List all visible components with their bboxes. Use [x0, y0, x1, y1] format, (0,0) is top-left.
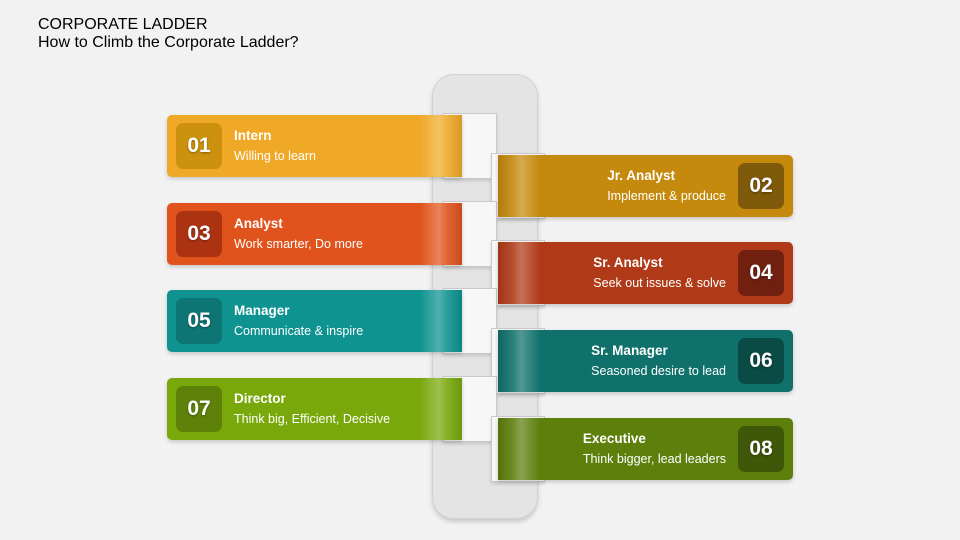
step-title: Sr. Analyst	[593, 255, 726, 271]
step-description: Implement & produce	[607, 188, 726, 204]
card-end-cap	[498, 418, 540, 480]
step-number-badge: 04	[738, 250, 784, 296]
card-text-block: AnalystWork smarter, Do more	[234, 216, 363, 252]
step-card-05[interactable]: 05ManagerCommunicate & inspire	[167, 290, 462, 352]
card-text-block: InternWilling to learn	[234, 128, 316, 164]
step-description: Think big, Efficient, Decisive	[234, 411, 390, 427]
step-number-badge: 06	[738, 338, 784, 384]
step-card-03[interactable]: 03AnalystWork smarter, Do more	[167, 203, 462, 265]
step-number-badge: 03	[176, 211, 222, 257]
header: CORPORATE LADDER How to Climb the Corpor…	[38, 16, 299, 52]
card-text-block: ExecutiveThink bigger, lead leaders	[583, 431, 726, 467]
step-number-badge: 07	[176, 386, 222, 432]
step-title: Sr. Manager	[591, 343, 726, 359]
step-number-badge: 01	[176, 123, 222, 169]
step-card-07[interactable]: 07DirectorThink big, Efficient, Decisive	[167, 378, 462, 440]
step-description: Work smarter, Do more	[234, 236, 363, 252]
step-title: Director	[234, 391, 390, 407]
step-number-badge: 08	[738, 426, 784, 472]
card-text-block: Sr. AnalystSeek out issues & solve	[593, 255, 726, 291]
card-end-cap	[498, 155, 540, 217]
step-card-02[interactable]: Jr. AnalystImplement & produce02	[498, 155, 793, 217]
step-card-08[interactable]: ExecutiveThink bigger, lead leaders08	[498, 418, 793, 480]
step-title: Manager	[234, 303, 363, 319]
step-description: Seek out issues & solve	[593, 275, 726, 291]
step-card-01[interactable]: 01InternWilling to learn	[167, 115, 462, 177]
step-description: Think bigger, lead leaders	[583, 451, 726, 467]
step-title: Jr. Analyst	[607, 168, 726, 184]
step-card-06[interactable]: Sr. ManagerSeasoned desire to lead06	[498, 330, 793, 392]
step-title: Executive	[583, 431, 726, 447]
step-description: Seasoned desire to lead	[591, 363, 726, 379]
step-number-badge: 05	[176, 298, 222, 344]
card-end-cap	[498, 242, 540, 304]
page-subtitle: How to Climb the Corporate Ladder?	[38, 34, 299, 52]
card-end-cap	[420, 203, 462, 265]
card-text-block: DirectorThink big, Efficient, Decisive	[234, 391, 390, 427]
card-text-block: Jr. AnalystImplement & produce	[607, 168, 726, 204]
step-description: Communicate & inspire	[234, 323, 363, 339]
step-card-04[interactable]: Sr. AnalystSeek out issues & solve04	[498, 242, 793, 304]
step-description: Willing to learn	[234, 148, 316, 164]
step-title: Intern	[234, 128, 316, 144]
card-text-block: Sr. ManagerSeasoned desire to lead	[591, 343, 726, 379]
card-end-cap	[420, 378, 462, 440]
card-end-cap	[420, 290, 462, 352]
card-text-block: ManagerCommunicate & inspire	[234, 303, 363, 339]
step-number-badge: 02	[738, 163, 784, 209]
card-end-cap	[498, 330, 540, 392]
page-title: CORPORATE LADDER	[38, 16, 299, 34]
step-title: Analyst	[234, 216, 363, 232]
card-end-cap	[420, 115, 462, 177]
